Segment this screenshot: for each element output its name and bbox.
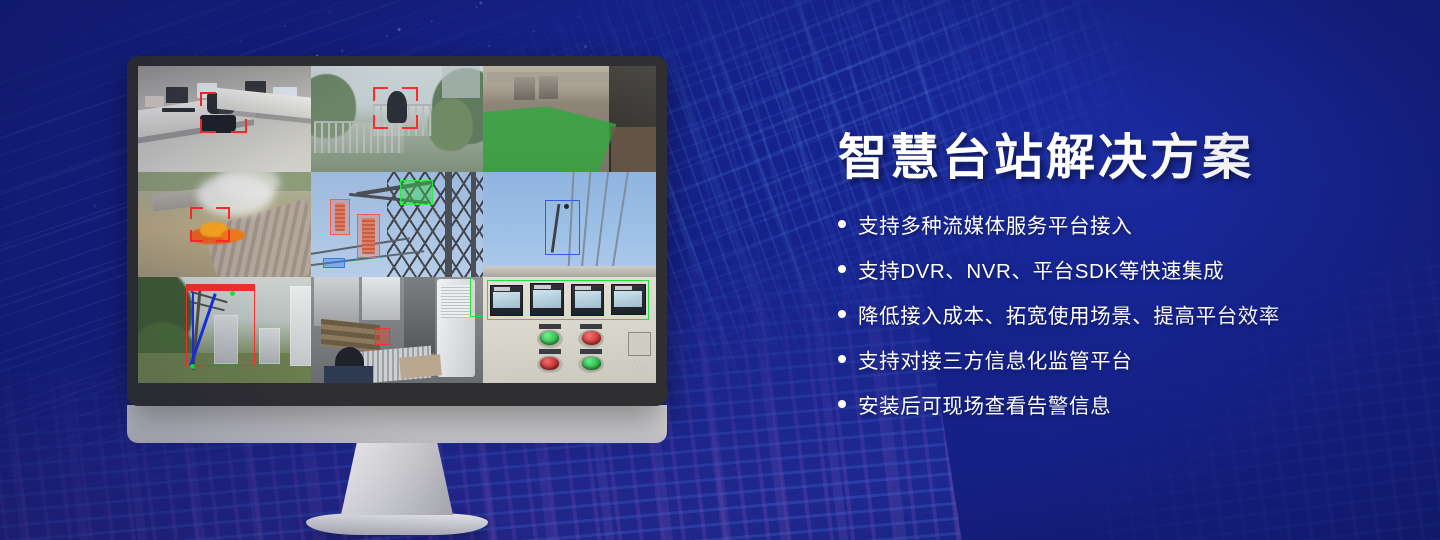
list-item: 支持多种流媒体服务平台接入 xyxy=(838,209,1398,239)
pole-bounding-box xyxy=(186,290,255,366)
cabinet-box xyxy=(470,277,484,317)
bullet-dot-icon xyxy=(838,355,846,363)
monitor-stand-foot xyxy=(306,513,488,535)
bullet-dot-icon xyxy=(838,310,846,318)
feature-text: 支持DVR、NVR、平台SDK等快速集成 xyxy=(858,254,1224,284)
indicator-lamp-red xyxy=(582,331,601,345)
conductor-box xyxy=(323,258,345,268)
video-feed-powerline-sky[interactable] xyxy=(483,172,656,278)
video-feed-equipment-room[interactable] xyxy=(311,277,484,383)
insulator-box-left xyxy=(330,199,351,235)
detection-bracket xyxy=(190,207,230,243)
surveillance-grid xyxy=(138,66,656,383)
feature-text: 安装后可现场查看告警信息 xyxy=(858,389,1111,419)
page-title: 智慧台站解决方案 xyxy=(838,132,1398,186)
bullet-dot-icon xyxy=(838,265,846,273)
monitor-stand-neck xyxy=(341,443,453,515)
monitor-bezel xyxy=(127,56,667,406)
video-feed-control-panel[interactable] xyxy=(483,277,656,383)
feature-text: 支持多种流媒体服务平台接入 xyxy=(858,209,1132,239)
list-item: 安装后可现场查看告警信息 xyxy=(838,389,1398,419)
feature-list: 支持多种流媒体服务平台接入 支持DVR、NVR、平台SDK等快速集成 降低接入成… xyxy=(838,209,1398,419)
insulator-box-right xyxy=(357,214,379,258)
desktop-monitor xyxy=(127,56,667,535)
list-item: 降低接入成本、拓宽使用场景、提高平台效率 xyxy=(838,299,1398,329)
gauge-group-box xyxy=(487,280,649,319)
bullet-dot-icon xyxy=(838,400,846,408)
monitor-base-bezel xyxy=(127,405,667,443)
video-feed-office-control-room[interactable] xyxy=(138,66,311,172)
list-item: 支持对接三方信息化监管平台 xyxy=(838,344,1398,374)
video-feed-fence-intrusion[interactable] xyxy=(311,66,484,172)
copy-block: 智慧台站解决方案 支持多种流媒体服务平台接入 支持DVR、NVR、平台SDK等快… xyxy=(838,132,1398,434)
feature-text: 降低接入成本、拓宽使用场景、提高平台效率 xyxy=(858,299,1280,329)
indicator-lamp-green-2 xyxy=(582,357,601,371)
detection-bracket xyxy=(200,92,247,132)
feature-text: 支持对接三方信息化监管平台 xyxy=(858,344,1132,374)
flame-detection-box xyxy=(375,328,391,345)
anomaly-box xyxy=(545,200,580,255)
bullet-dot-icon xyxy=(838,220,846,228)
video-feed-pole-tilt[interactable] xyxy=(138,277,311,383)
video-feed-zone-monitoring[interactable] xyxy=(483,66,656,172)
video-feed-tower-inspection[interactable] xyxy=(311,172,484,278)
banner-root: 智慧台站解决方案 支持多种流媒体服务平台接入 支持DVR、NVR、平台SDK等快… xyxy=(0,0,1440,540)
detection-bracket xyxy=(373,87,418,129)
video-feed-fire-detection[interactable] xyxy=(138,172,311,278)
list-item: 支持DVR、NVR、平台SDK等快速集成 xyxy=(838,254,1398,284)
tower-component-box xyxy=(400,180,433,205)
